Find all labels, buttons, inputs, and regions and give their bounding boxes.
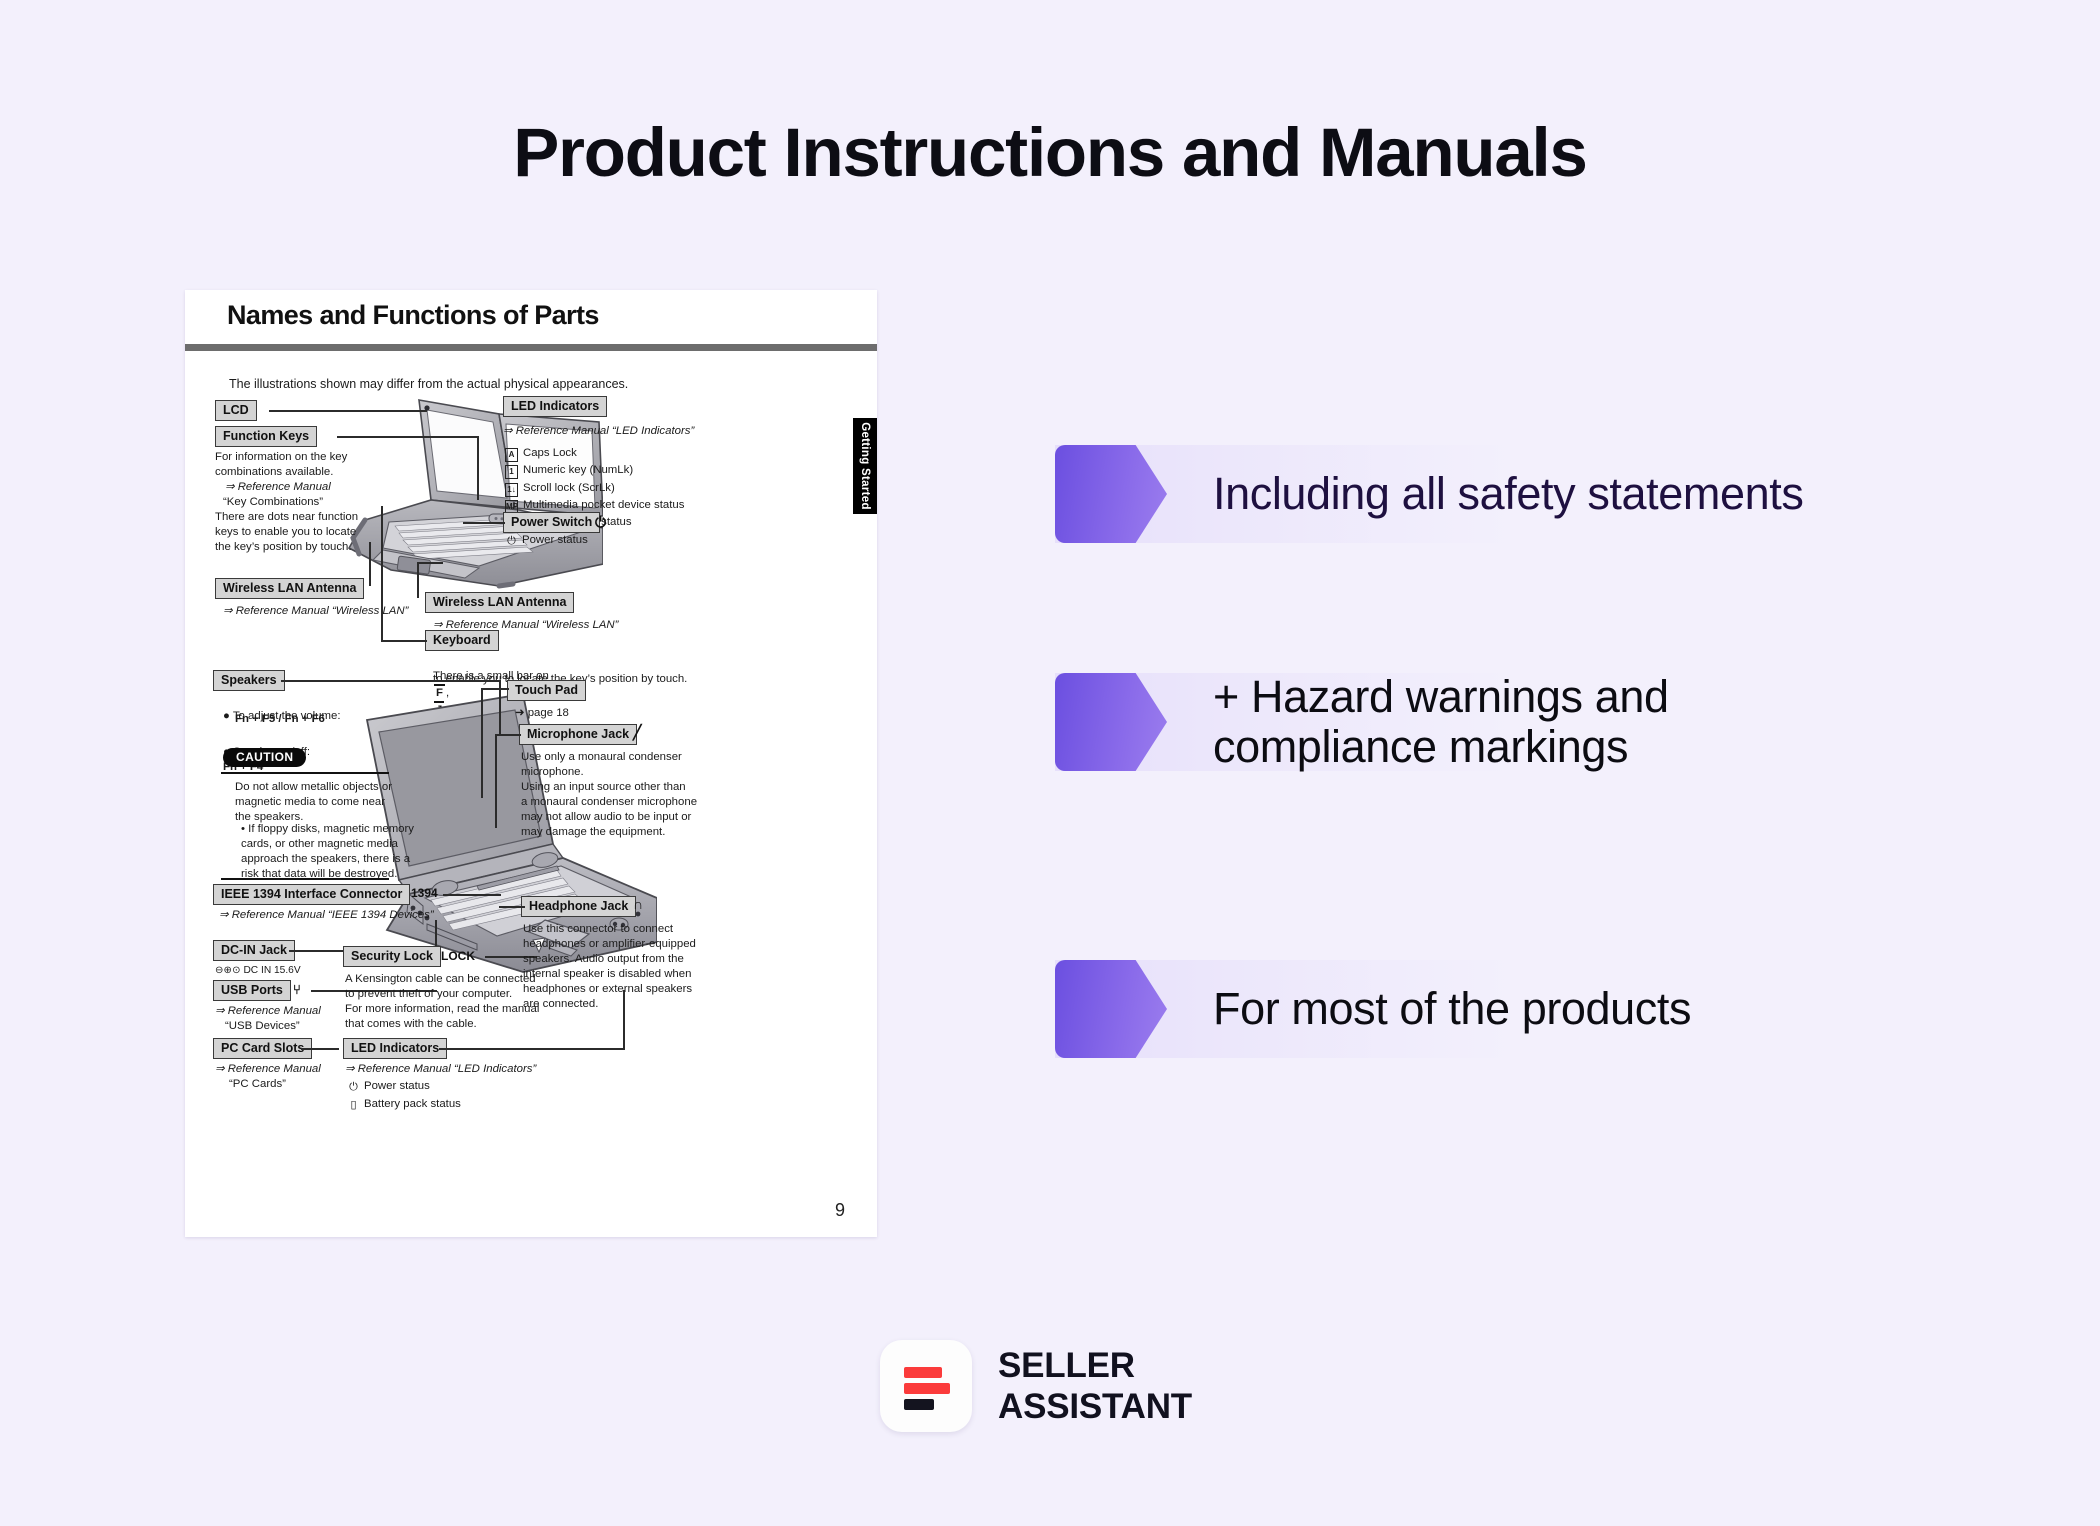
leader-microphone: [495, 734, 521, 736]
callout-function-keys-body: For information on the key combinations …: [215, 450, 405, 480]
leader-function-keys: [337, 436, 479, 438]
logo-bar-dark: [904, 1399, 934, 1410]
callout-microphone-jack-label: Microphone Jack: [519, 724, 637, 745]
callout-headphone-jack-label: Headphone Jack: [521, 896, 636, 917]
caution-rule-bottom: [221, 878, 389, 880]
callout-function-keys-ref-quote: “Key Combinations”: [223, 495, 323, 510]
callout-touch-pad-ref: ➜ page 18: [515, 706, 569, 721]
callout-microphone-jack-body: Use only a monaural condenser microphone…: [521, 750, 721, 840]
manual-page-preview: Names and Functions of Parts The illustr…: [185, 290, 877, 1237]
callout-dc-in-jack-spec: ⊖⊕⊙ DC IN 15.6V: [215, 964, 301, 977]
callout-usb-ports-ref-quote: “USB Devices”: [225, 1019, 300, 1034]
leader-keyboard-v: [381, 506, 383, 642]
power-status-icon: ⏻: [347, 1079, 360, 1096]
leader-function-keys-drop: [477, 436, 479, 500]
led-item: ⏻Power status: [347, 1078, 461, 1096]
led-item: ACaps Lock: [505, 445, 684, 462]
leader-wireless-right-h: [417, 562, 443, 564]
leader-power-switch: [463, 522, 505, 524]
leader-wireless-right: [417, 562, 419, 598]
feature-label-2: + Hazard warnings and compliance marking…: [1213, 672, 1669, 773]
callout-pc-card-slots-ref: ⇒ Reference Manual: [215, 1062, 321, 1077]
callout-touch-pad-label: Touch Pad: [507, 680, 586, 701]
leader-ieee1394: [443, 894, 501, 896]
power-status-icon: ⏻: [505, 533, 518, 550]
leader-touchpad: [481, 688, 509, 690]
leader-lcd: [269, 410, 427, 412]
manual-header-title: Names and Functions of Parts: [227, 300, 599, 331]
leader-speakers: [281, 680, 501, 682]
callout-speakers-caution-sub: • If floppy disks, magnetic memory cards…: [241, 822, 421, 882]
feature-item-2: + Hazard warnings and compliance marking…: [1055, 673, 2055, 771]
security-lock-suffix: LOCK: [441, 949, 475, 963]
callout-led-indicators-top-label: LED Indicators: [503, 396, 607, 417]
microphone-icon: ╱: [633, 724, 641, 741]
logo-bar-red-short: [904, 1367, 942, 1378]
ieee1394-suffix: 1394: [411, 886, 438, 900]
led-item: ▯Battery pack status: [347, 1096, 461, 1114]
manual-header-rule: [185, 344, 877, 351]
section-tab-label: Getting Started: [859, 422, 871, 510]
caution-rule: [221, 772, 389, 774]
feature-item-3: For most of the products: [1055, 960, 2055, 1058]
callout-function-keys-label: Function Keys: [215, 426, 317, 447]
led-item: 1↓Scroll lock (ScrLk): [505, 480, 684, 497]
manual-header: Names and Functions of Parts: [185, 290, 877, 343]
numlock-icon: 1: [505, 465, 518, 479]
callout-led-indicators-top-ref: ⇒ Reference Manual “LED Indicators”: [503, 424, 694, 439]
leader-led-bottom: [439, 1048, 625, 1050]
callout-led-indicators-bottom-label: LED Indicators: [343, 1038, 447, 1059]
headphone-icon: ∩: [633, 896, 643, 912]
power-switch-icon: ⏻: [595, 514, 606, 531]
logo-bar-red-long: [904, 1383, 950, 1394]
feature-label-3: For most of the products: [1213, 984, 1691, 1034]
leader-keyboard: [381, 640, 427, 642]
usb-icon: ⑂: [293, 982, 301, 997]
leader-touchpad-v: [481, 688, 483, 798]
led-item: ⏻Power status: [505, 532, 684, 550]
callout-speakers-volume-keys: Fn + F5 / Fn + F6: [235, 712, 325, 727]
led-indicators-bottom-list: ⏻Power status ▯Battery pack status: [347, 1078, 461, 1113]
leader-wireless-left: [369, 542, 371, 586]
callout-function-keys-ref: ⇒ Reference Manual: [225, 480, 331, 495]
callout-pc-card-slots-ref-quote: “PC Cards”: [229, 1077, 286, 1092]
callout-security-lock-label: Security Lock: [343, 946, 441, 967]
section-tab-getting-started: Getting Started: [853, 418, 877, 514]
callout-lcd-label: LCD: [215, 400, 257, 421]
callout-wireless-lan-left-label: Wireless LAN Antenna: [215, 578, 364, 599]
caution-badge: CAUTION: [223, 748, 306, 767]
brand-logo: SELLER ASSISTANT: [880, 1340, 1192, 1432]
callout-speakers-label: Speakers: [213, 670, 285, 691]
callout-headphone-jack-body: Use this connector to connect headphones…: [523, 922, 723, 1012]
scrolllock-icon: 1↓: [505, 483, 518, 497]
callout-usb-ports-ref: ⇒ Reference Manual: [215, 1004, 321, 1019]
callout-dc-in-jack-label: DC-IN Jack: [213, 940, 295, 961]
callout-pc-card-slots-label: PC Card Slots: [213, 1038, 312, 1059]
battery-icon: ▯: [347, 1097, 360, 1114]
feature-item-1: Including all safety statements: [1055, 445, 2055, 543]
seller-assistant-mark-icon: [880, 1340, 972, 1432]
page-title: Product Instructions and Manuals: [0, 113, 2100, 192]
brand-name: SELLER ASSISTANT: [998, 1345, 1192, 1428]
callout-ieee1394-ref: ⇒ Reference Manual “IEEE 1394 Devices”: [219, 908, 434, 923]
callout-ieee1394-label: IEEE 1394 Interface Connector: [213, 884, 410, 905]
leader-headphone: [499, 906, 525, 908]
manual-page-number: 9: [835, 1200, 845, 1221]
callout-led-indicators-bottom-ref: ⇒ Reference Manual “LED Indicators”: [345, 1062, 536, 1077]
callout-speakers-caution-body: Do not allow metallic objects or magneti…: [235, 780, 413, 825]
callout-keyboard-label: Keyboard: [425, 630, 499, 651]
led-indicators-top-list: ACaps Lock 1Numeric key (NumLk) 1↓Scroll…: [505, 445, 684, 550]
leader-pccard: [301, 1048, 339, 1050]
led-item: 1Numeric key (NumLk): [505, 462, 684, 479]
leader-microphone-v: [495, 734, 497, 828]
callout-usb-ports-label: USB Ports: [213, 980, 291, 1001]
callout-function-keys-body2: There are dots near function keys to ena…: [215, 510, 405, 555]
caps-lock-icon: A: [505, 448, 518, 462]
feature-label-1: Including all safety statements: [1213, 469, 1803, 519]
callout-wireless-lan-right-label: Wireless LAN Antenna: [425, 592, 574, 613]
callout-power-switch-label: Power Switch: [503, 512, 600, 533]
